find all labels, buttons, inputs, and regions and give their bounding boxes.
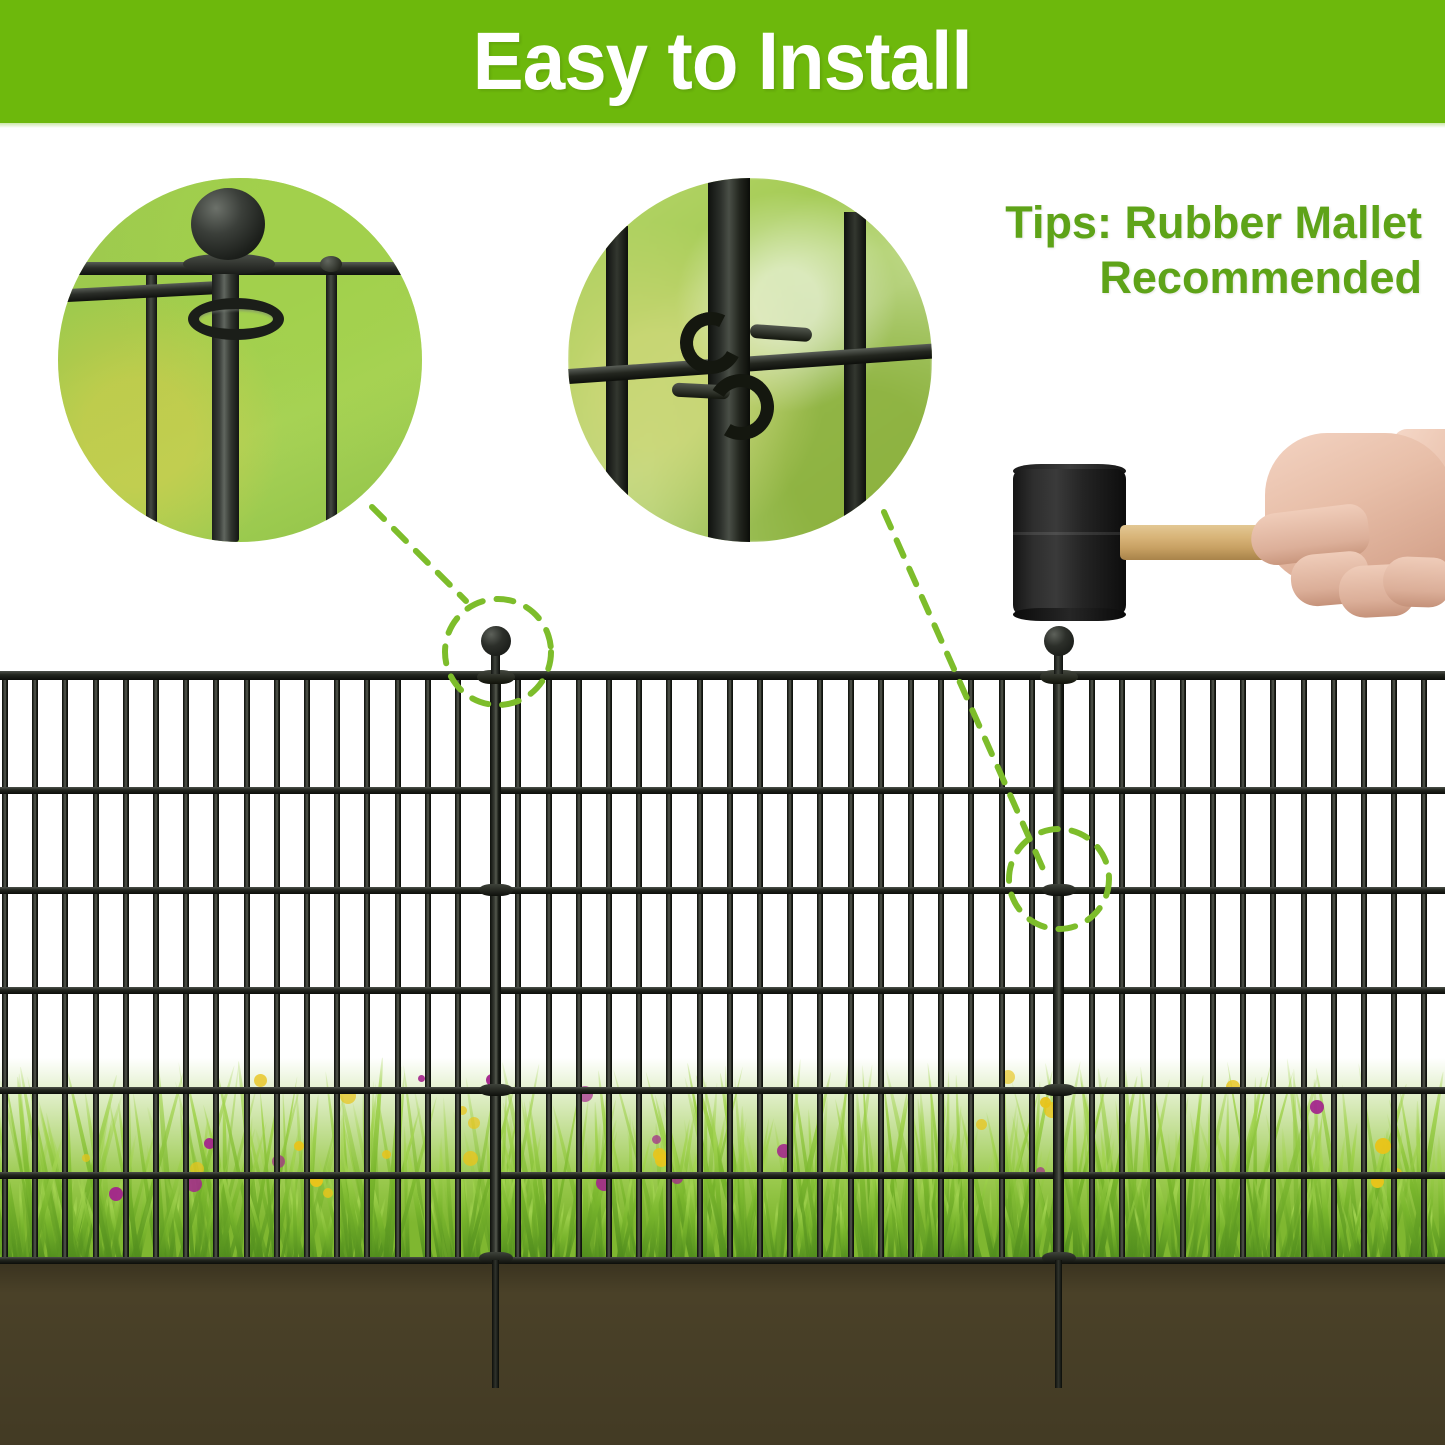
fence-scene bbox=[0, 640, 1445, 1445]
ball-finial-icon bbox=[1044, 626, 1074, 656]
post-collar bbox=[479, 1084, 513, 1096]
ball-finial-icon bbox=[191, 188, 265, 260]
finger bbox=[1382, 556, 1445, 608]
post-collar bbox=[1042, 1084, 1076, 1096]
ground-stake bbox=[492, 1260, 499, 1388]
fence-post bbox=[477, 640, 515, 1445]
fence-bar bbox=[146, 274, 157, 542]
mallet-head bbox=[1013, 469, 1126, 617]
callout-circle-hook bbox=[568, 178, 932, 542]
hand-holding-mallet bbox=[1243, 425, 1445, 640]
tips-text: Tips: Rubber Mallet Recommended bbox=[982, 196, 1422, 306]
ball-finial-icon bbox=[481, 626, 511, 656]
post-shaft bbox=[1053, 678, 1064, 1260]
post-collar bbox=[479, 884, 513, 896]
tips-label: Tips: bbox=[1005, 197, 1112, 248]
fence-structure bbox=[0, 640, 1445, 1445]
tips-line1: Rubber Mallet bbox=[1112, 197, 1422, 248]
infographic-canvas: Easy to Install Tips: Rubber Mallet Reco… bbox=[0, 0, 1445, 1445]
ground-stake bbox=[1055, 1260, 1062, 1388]
fence-post bbox=[1040, 640, 1078, 1445]
fence-bar bbox=[606, 226, 628, 542]
page-title: Easy to Install bbox=[473, 21, 972, 103]
banner-shadow bbox=[0, 123, 1445, 128]
post-shaft bbox=[490, 678, 501, 1260]
fence-bar bbox=[326, 274, 337, 542]
header-banner: Easy to Install bbox=[0, 0, 1445, 123]
tips-line2: Recommended bbox=[1099, 252, 1422, 303]
post-collar bbox=[1042, 884, 1076, 896]
callout-circle-finial bbox=[58, 178, 422, 542]
loop-connector bbox=[188, 298, 284, 340]
fence-bar bbox=[844, 212, 866, 542]
mallet-head-bottom bbox=[1013, 608, 1126, 621]
rail-knob bbox=[320, 256, 342, 272]
